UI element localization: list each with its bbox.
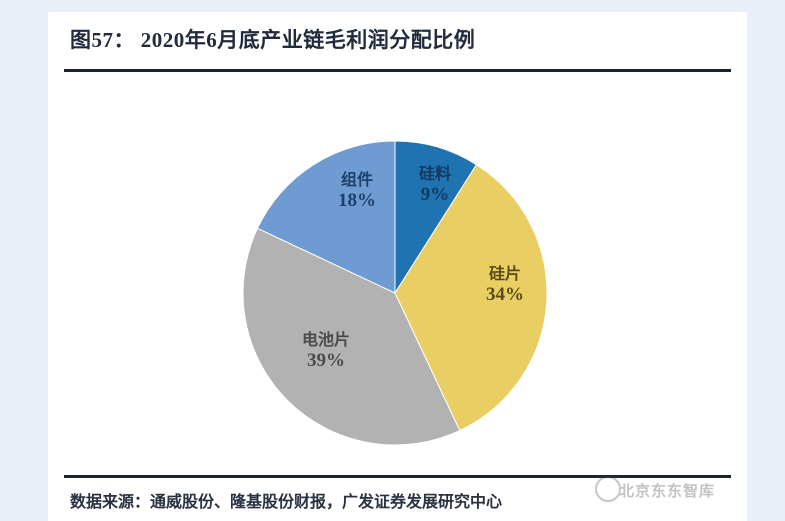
- pie-slice-group: [243, 141, 547, 445]
- title-divider: [64, 69, 731, 72]
- page-title: 图57： 2020年6月底产业链毛利润分配比例: [70, 24, 475, 54]
- pie-chart-svg: [242, 140, 548, 446]
- footer-divider: [64, 475, 731, 478]
- chart-area: 硅料 9% 硅片 34% 电池片 39% 组件 18%: [48, 74, 747, 466]
- watermark: 北京东东智库: [593, 462, 743, 521]
- figure-header: 图57： 2020年6月底产业链毛利润分配比例: [48, 12, 747, 64]
- figure-card: 图57： 2020年6月底产业链毛利润分配比例 硅料 9% 硅片 34% 电池片…: [48, 12, 747, 521]
- watermark-label: 北京东东智库: [619, 480, 715, 501]
- figure-source-note: 数据来源：通威股份、隆基股份财报，广发证券发展研究中心: [70, 488, 502, 512]
- pie-chart: 硅料 9% 硅片 34% 电池片 39% 组件 18%: [242, 140, 548, 446]
- watermark-logo-icon: [595, 476, 621, 502]
